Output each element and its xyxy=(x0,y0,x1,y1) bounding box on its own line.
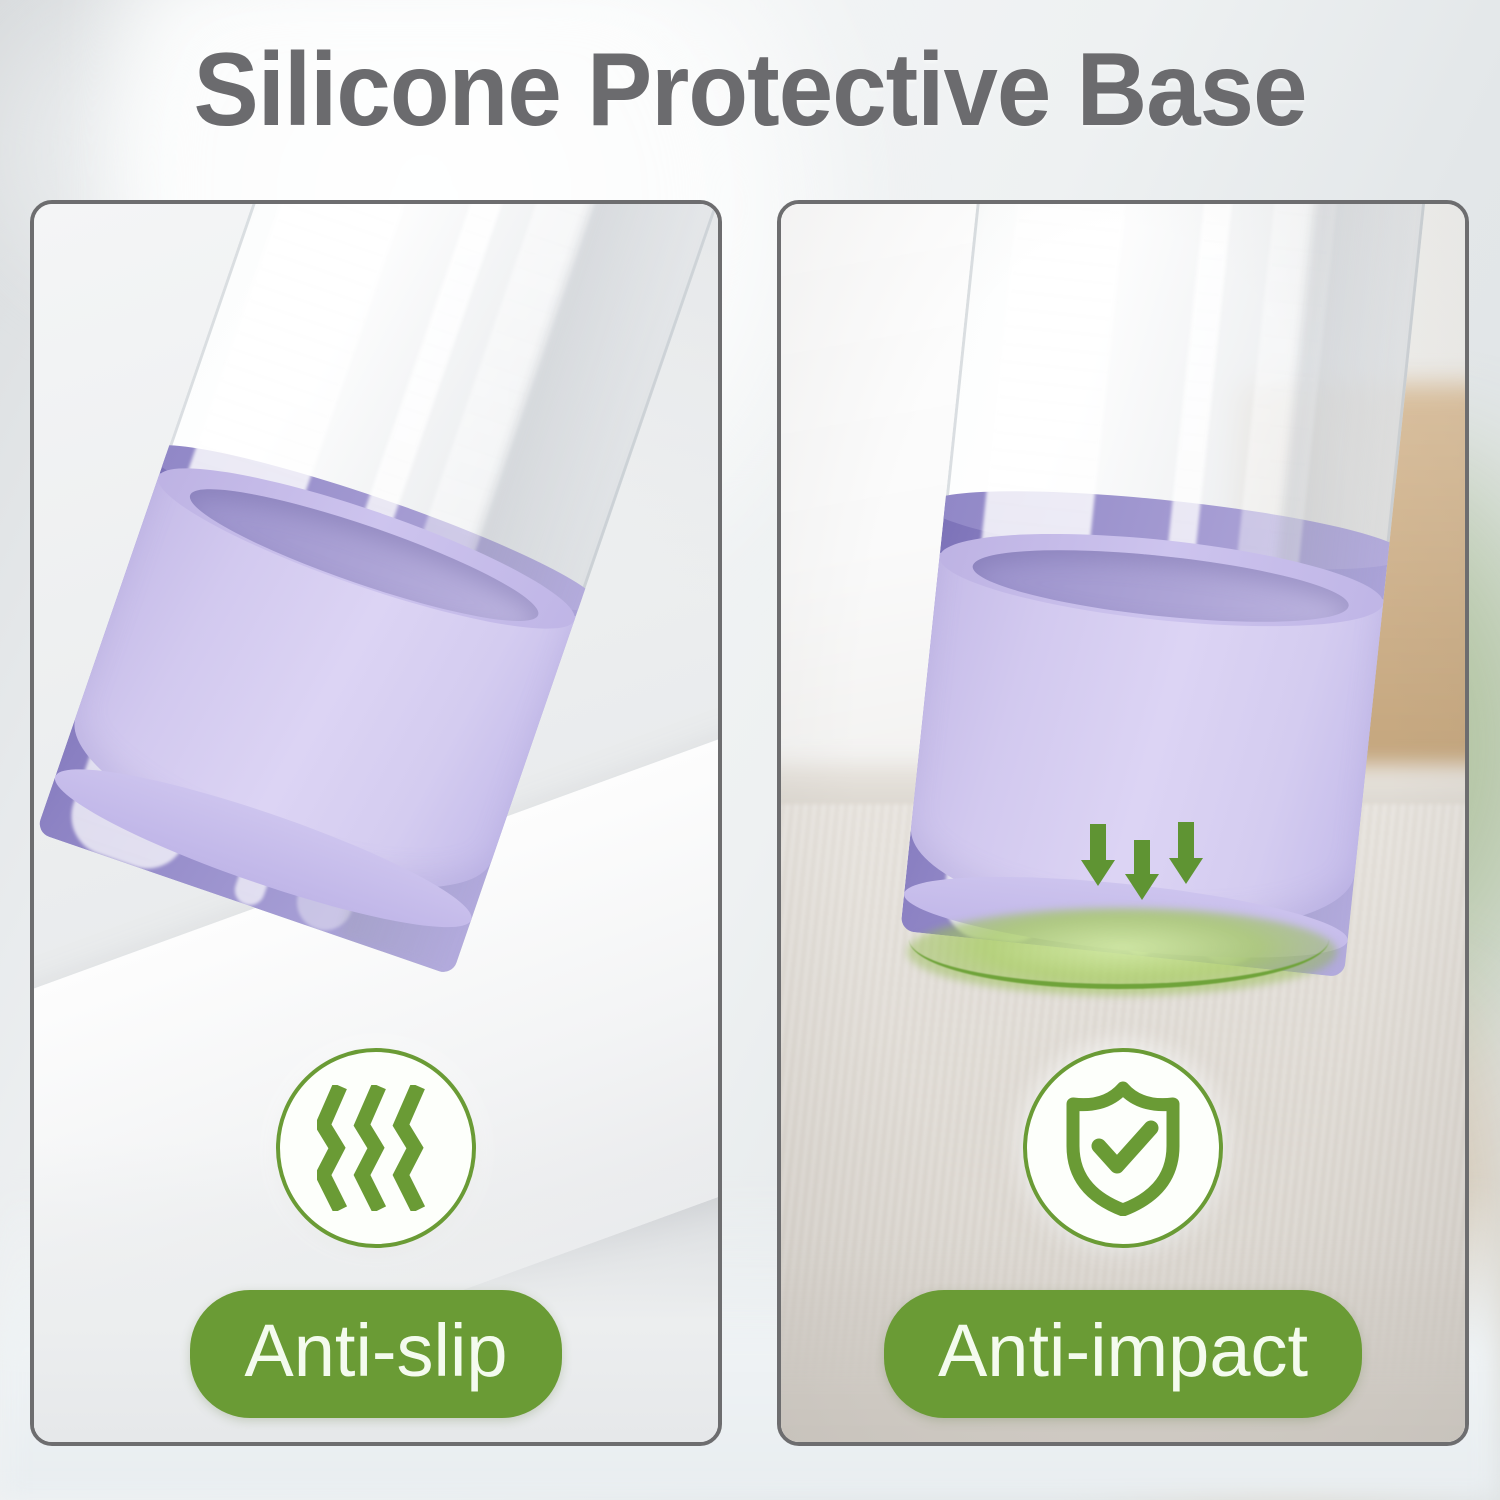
feature-panels: Anti-slip xyxy=(0,200,1500,1446)
panel-anti-slip[interactable]: Anti-slip xyxy=(30,200,722,1446)
zigzag-waves-icon xyxy=(276,1048,476,1248)
feature-anti-slip: Anti-slip xyxy=(34,1048,718,1418)
feature-anti-impact: Anti-impact xyxy=(781,1048,1465,1418)
panel-anti-impact[interactable]: Anti-impact xyxy=(777,200,1469,1446)
badge-anti-slip: Anti-slip xyxy=(190,1290,561,1418)
shield-check-icon xyxy=(1023,1048,1223,1248)
page-title: Silicone Protective Base xyxy=(45,38,1455,142)
badge-anti-impact: Anti-impact xyxy=(884,1290,1362,1418)
